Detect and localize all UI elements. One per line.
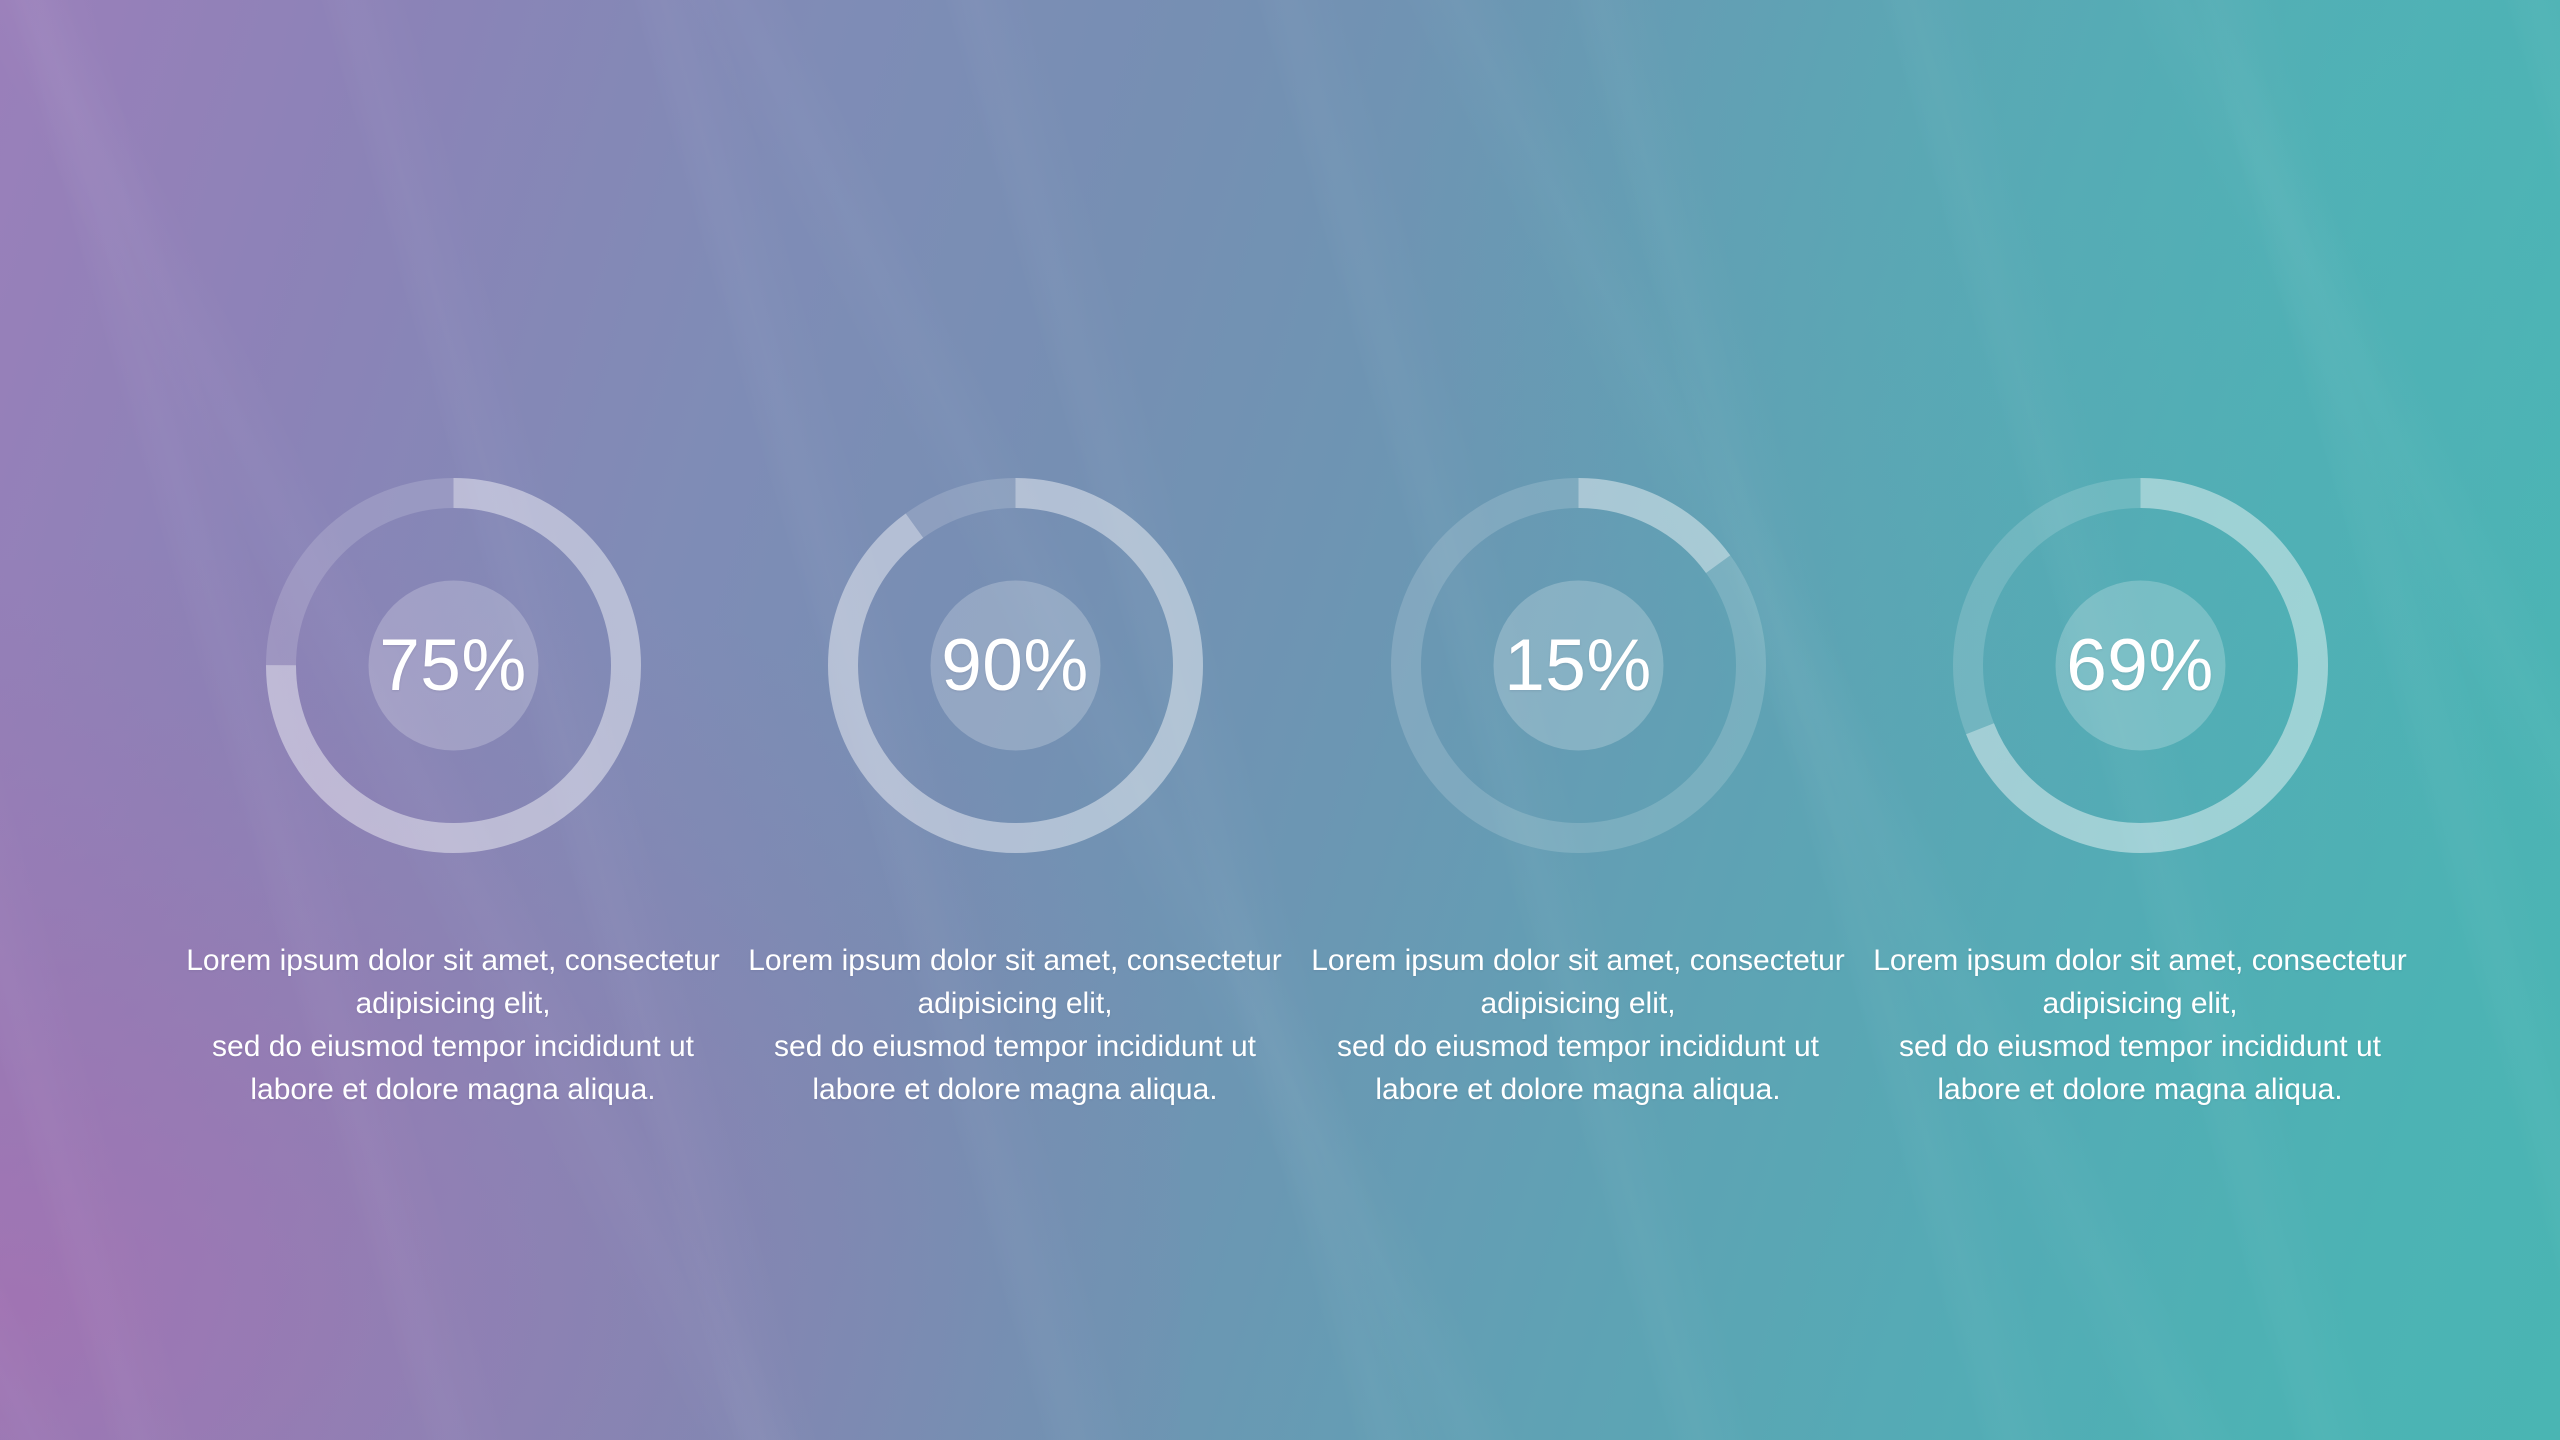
infographic-canvas: 75% Lorem ipsum dolor sit amet, consecte… <box>0 0 2560 1440</box>
donut-chart-90[interactable]: 90% <box>828 478 1203 853</box>
percent-value: 90% <box>828 478 1203 853</box>
card-caption: Lorem ipsum dolor sit amet, consectetur … <box>1790 940 2490 1112</box>
donut-chart-15[interactable]: 15% <box>1391 478 1766 853</box>
donut-chart-75[interactable]: 75% <box>266 478 641 853</box>
donut-card: 15% Lorem ipsum dolor sit amet, consecte… <box>1297 0 1859 1440</box>
donut-chart-69[interactable]: 69% <box>1953 478 2328 853</box>
percent-value: 15% <box>1391 478 1766 853</box>
percent-value: 75% <box>266 478 641 853</box>
donut-card-list: 75% Lorem ipsum dolor sit amet, consecte… <box>0 0 2560 1440</box>
donut-card: 75% Lorem ipsum dolor sit amet, consecte… <box>172 0 734 1440</box>
donut-card: 69% Lorem ipsum dolor sit amet, consecte… <box>1859 0 2421 1440</box>
donut-card: 90% Lorem ipsum dolor sit amet, consecte… <box>734 0 1296 1440</box>
percent-value: 69% <box>1953 478 2328 853</box>
